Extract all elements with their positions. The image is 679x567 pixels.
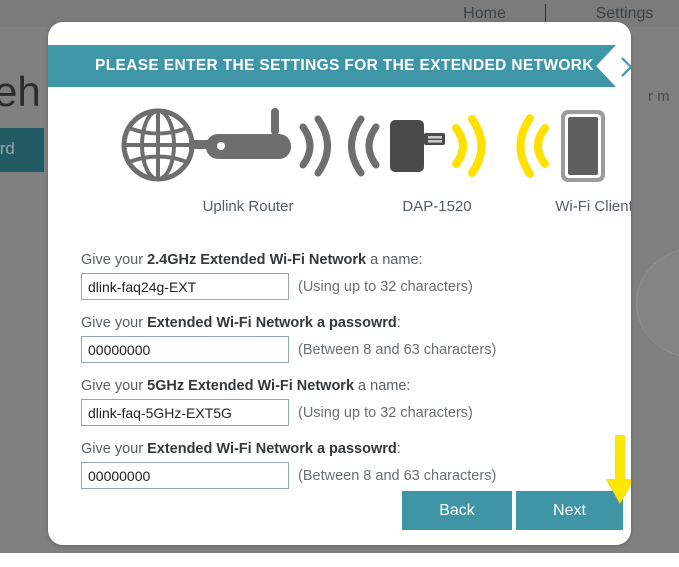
field-hint: (Using up to 32 characters) <box>298 279 473 295</box>
field-label-strong: 5GHz Extended Wi-Fi Network <box>147 378 354 394</box>
diagram-node-label: Wi-Fi Client <box>503 198 631 215</box>
background-text-fragment-top: r m <box>648 88 670 105</box>
field-label-strong: 2.4GHz Extended Wi-Fi Network <box>147 252 366 268</box>
field-label: Give your Extended Wi-Fi Network a passo… <box>81 441 611 457</box>
input-24ghz-ssid[interactable] <box>81 273 289 300</box>
field-label-prefix: Give your <box>81 252 147 268</box>
input-5ghz-ssid[interactable] <box>81 399 289 426</box>
field-row-5ghz-ssid: Give your 5GHz Extended Wi-Fi Network a … <box>81 378 611 426</box>
background-wizard-label: izard <box>0 139 15 159</box>
network-topology-diagram: Uplink Router <box>48 102 631 230</box>
field-label: Give your 2.4GHz Extended Wi-Fi Network … <box>81 252 611 268</box>
field-row-24ghz-ssid: Give your 2.4GHz Extended Wi-Fi Network … <box>81 252 611 300</box>
field-label-strong: Extended Wi-Fi Network a passowrd <box>147 441 397 457</box>
input-5ghz-password[interactable] <box>81 462 289 489</box>
field-label: Give your 5GHz Extended Wi-Fi Network a … <box>81 378 611 394</box>
field-label-suffix: a name: <box>366 252 422 268</box>
extended-network-settings-dialog: PLEASE ENTER THE SETTINGS FOR THE EXTEND… <box>48 22 631 545</box>
wall-plug-extender-icon <box>348 102 526 192</box>
field-hint: (Using up to 32 characters) <box>298 405 473 421</box>
nav-divider <box>545 4 546 24</box>
close-icon[interactable] <box>612 47 631 85</box>
field-label: Give your Extended Wi-Fi Network a passo… <box>81 315 611 331</box>
field-label-prefix: Give your <box>81 315 147 331</box>
next-button[interactable]: Next <box>516 491 623 530</box>
field-row-5ghz-password: Give your Extended Wi-Fi Network a passo… <box>81 441 611 489</box>
field-label-prefix: Give your <box>81 378 147 394</box>
input-24ghz-password[interactable] <box>81 336 289 363</box>
field-hint: (Between 8 and 63 characters) <box>298 468 496 484</box>
background-page-heading: eh <box>0 68 41 116</box>
field-hint: (Between 8 and 63 characters) <box>298 342 496 358</box>
field-label-suffix: a name: <box>354 378 410 394</box>
field-label-prefix: Give your <box>81 441 147 457</box>
field-label-strong: Extended Wi-Fi Network a passowrd <box>147 315 397 331</box>
diagram-node-label: DAP-1520 <box>348 198 526 215</box>
dialog-title: PLEASE ENTER THE SETTINGS FOR THE EXTEND… <box>95 45 594 87</box>
field-label-suffix: : <box>397 441 401 457</box>
tablet-client-icon <box>503 102 631 192</box>
field-label-suffix: : <box>397 315 401 331</box>
background-device-illustration <box>636 248 679 358</box>
back-button[interactable]: Back <box>402 491 512 530</box>
field-row-24ghz-password: Give your Extended Wi-Fi Network a passo… <box>81 315 611 363</box>
